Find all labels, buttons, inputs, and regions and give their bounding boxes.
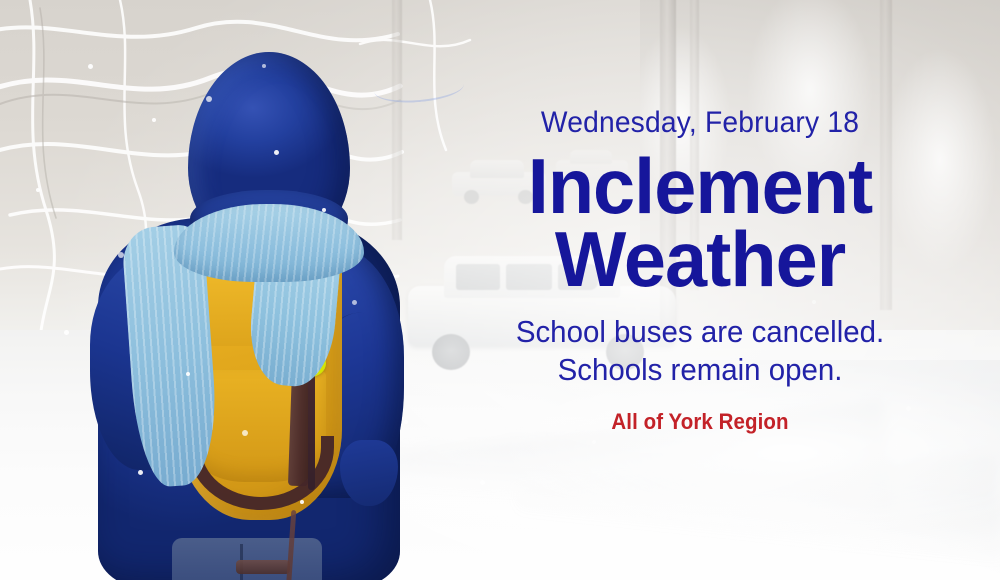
status-message: School buses are cancelled. Schools rema…: [434, 313, 966, 389]
date-line: Wednesday, February 18: [437, 108, 963, 138]
region-badge: All of York Region: [440, 409, 961, 435]
status-line-1: School buses are cancelled.: [434, 313, 966, 351]
inclement-weather-banner: Wednesday, February 18 Inclement Weather…: [0, 0, 1000, 580]
child-figure: [40, 40, 410, 580]
status-line-2: Schools remain open.: [434, 351, 966, 389]
announcement-text: Wednesday, February 18 Inclement Weather…: [420, 108, 980, 435]
backpack-buckle: [236, 560, 290, 574]
headline-line-2: Weather: [428, 223, 971, 296]
page-title: Inclement Weather: [428, 150, 971, 295]
